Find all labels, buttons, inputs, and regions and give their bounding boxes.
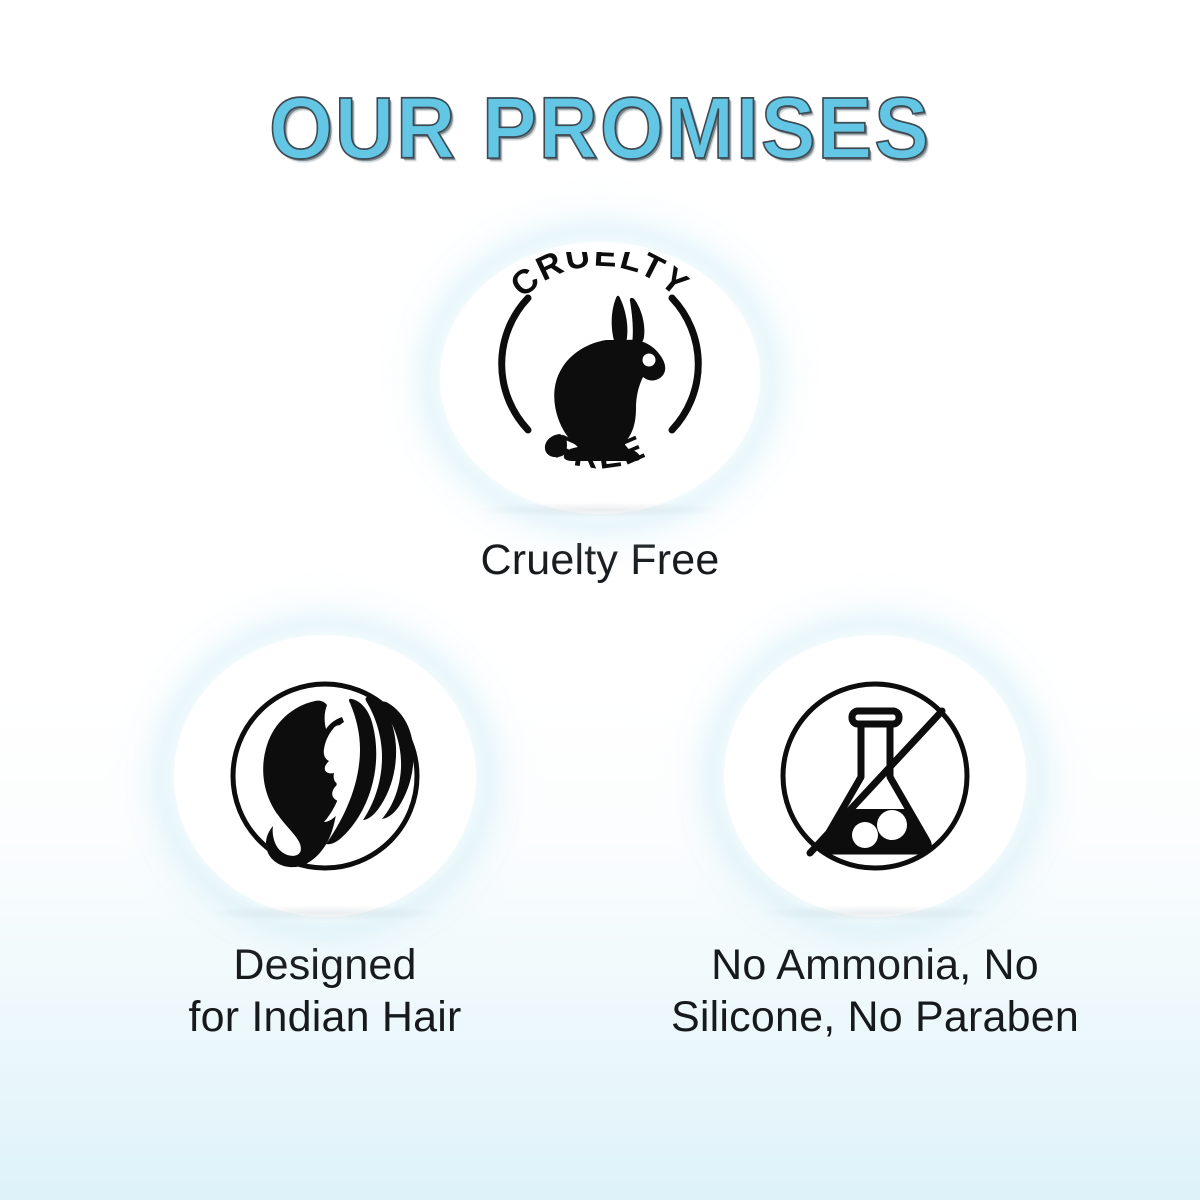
flask-bubble-icon bbox=[852, 822, 878, 848]
promises-page: OUR PROMISES CRUELTY FREE bbox=[0, 0, 1200, 1200]
promise-caption-no-chemicals: No Ammonia, No Silicone, No Paraben bbox=[625, 939, 1125, 1044]
no-chemical-flask-icon bbox=[734, 645, 1016, 907]
svg-text:CRUELTY: CRUELTY bbox=[503, 252, 696, 305]
rabbit-eye-icon bbox=[643, 354, 656, 367]
cruelty-free-rabbit-badge-icon: CRUELTY FREE bbox=[450, 252, 750, 504]
promise-caption-indian-hair: Designed for Indian Hair bbox=[75, 939, 575, 1044]
cruelty-free-badge-disc: CRUELTY FREE bbox=[450, 252, 750, 504]
promise-item-no-chemicals: No Ammonia, No Silicone, No Paraben bbox=[625, 645, 1125, 1044]
page-title: OUR PROMISES bbox=[269, 86, 931, 173]
woman-flowing-hair-icon bbox=[184, 645, 466, 907]
promise-caption-cruelty-free: Cruelty Free bbox=[350, 534, 850, 586]
flask-rim-icon bbox=[852, 711, 899, 724]
indian-hair-badge-disc bbox=[184, 645, 466, 907]
promise-item-indian-hair: Designed for Indian Hair bbox=[75, 645, 575, 1044]
promise-item-cruelty-free: CRUELTY FREE bbox=[350, 252, 850, 586]
no-chemicals-badge-disc bbox=[734, 645, 1016, 907]
flask-bubble-icon bbox=[877, 810, 907, 840]
page-title-container: OUR PROMISES bbox=[0, 86, 1200, 168]
